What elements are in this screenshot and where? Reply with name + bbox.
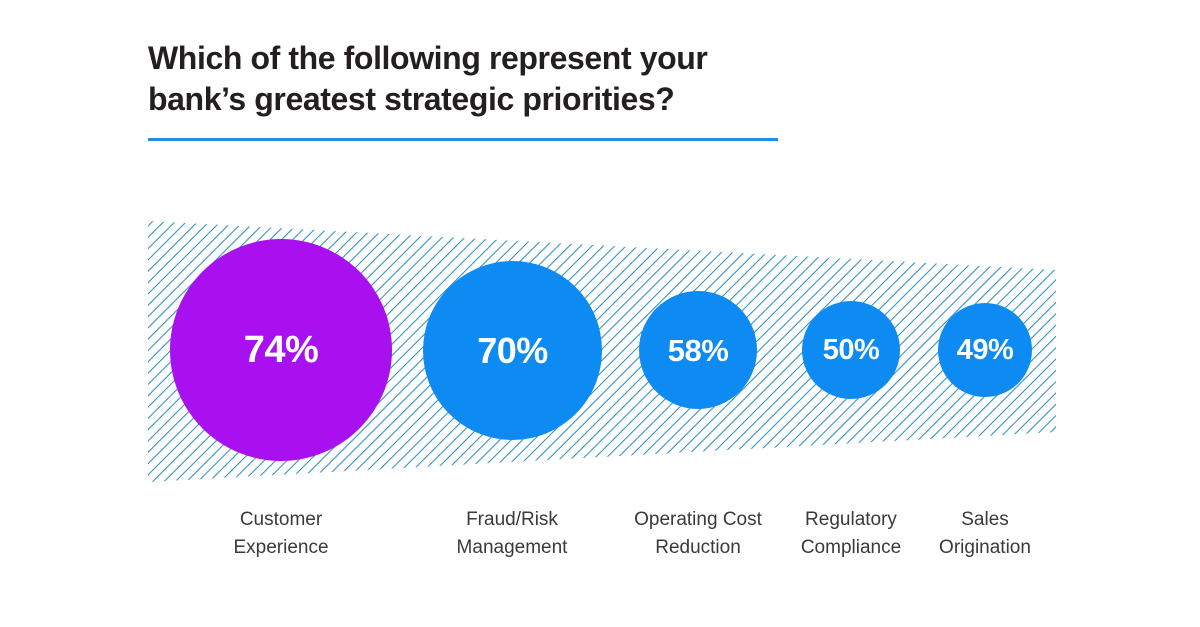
title-underline-rule xyxy=(148,138,778,141)
chart-canvas: Which of the following represent your ba… xyxy=(0,0,1200,627)
bubble-value-operating-cost-reduction: 58% xyxy=(668,335,729,366)
bubble-value-customer-experience: 74% xyxy=(244,331,319,369)
bubble-operating-cost-reduction: 58% xyxy=(639,291,757,409)
bubble-value-fraud-risk-management: 70% xyxy=(477,333,548,369)
bubble-customer-experience: 74% xyxy=(170,239,392,461)
page-title: Which of the following represent your ba… xyxy=(148,38,828,120)
bubble-value-regulatory-compliance: 50% xyxy=(823,336,880,365)
bubble-value-sales-origination: 49% xyxy=(957,336,1014,365)
bubble-fraud-risk-management: 70% xyxy=(423,261,602,440)
category-label-sales-origination: Sales Origination xyxy=(880,506,1090,562)
bubble-sales-origination: 49% xyxy=(938,303,1032,397)
title-block: Which of the following represent your ba… xyxy=(148,38,828,120)
category-label-customer-experience: Customer Experience xyxy=(161,506,401,562)
bubble-regulatory-compliance: 50% xyxy=(802,301,900,399)
